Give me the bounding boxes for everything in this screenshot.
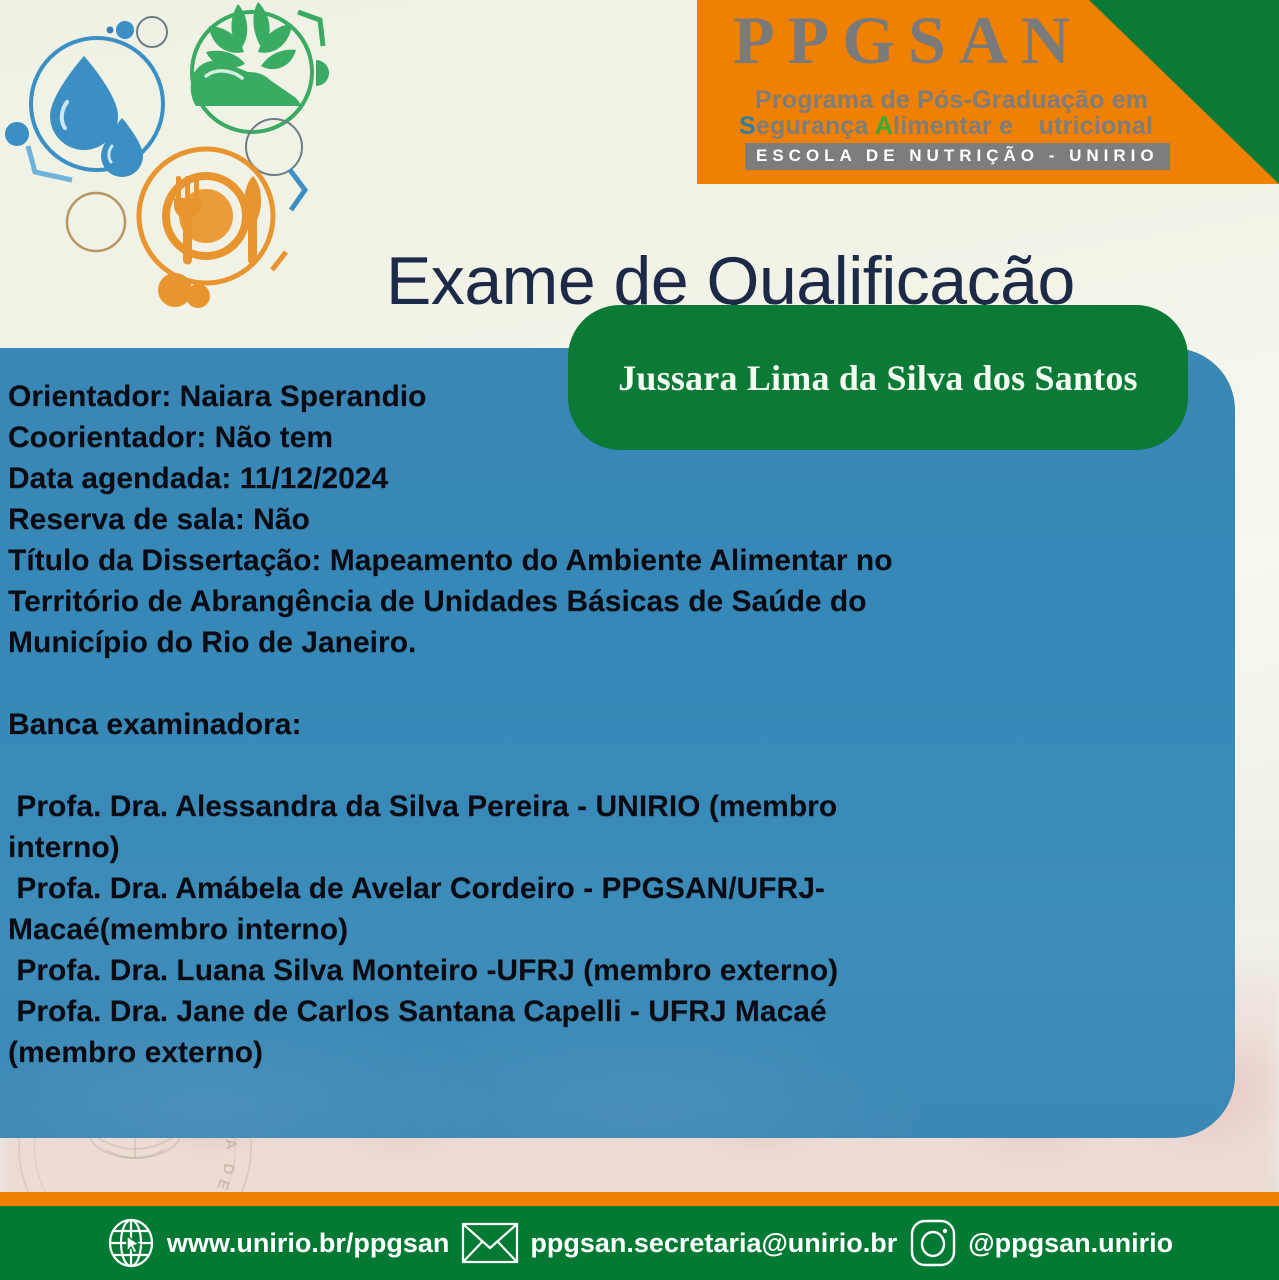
instagram-icon [909, 1217, 957, 1269]
footer-website-text: www.unirio.br/ppgsan [167, 1228, 450, 1259]
ppgsan-logo-block: PPGSAN Programa de Pós-Graduação em Segu… [697, 0, 1279, 184]
globe-icon [106, 1217, 156, 1269]
student-name-label: Jussara Lima da Silva dos Santos [618, 357, 1138, 399]
ppgsan-seguranca-rest: egurança [756, 112, 875, 140]
footer-website[interactable]: www.unirio.br/ppgsan [100, 1217, 456, 1269]
green-corner-triangle [1089, 0, 1279, 184]
envelope-icon [461, 1220, 519, 1266]
footer-email-text: ppgsan.secretaria@unirio.br [530, 1228, 897, 1259]
ppgsan-acronym: PPGSAN [733, 6, 1083, 74]
water-drop-icon [50, 56, 118, 150]
footer-email[interactable]: ppgsan.secretaria@unirio.br [455, 1220, 903, 1266]
student-name-badge: Jussara Lima da Silva dos Santos [568, 305, 1188, 450]
san-icons-artwork [0, 0, 380, 324]
ppgsan-n-letter-hidden: N [1020, 112, 1038, 140]
ppgsan-a-letter: A [875, 112, 893, 140]
poster-canvas: E S C O L A D E N U T R I Ç Ã O [0, 0, 1279, 1280]
footer-contacts: www.unirio.br/ppgsan ppgsan.secretaria@u… [0, 1206, 1279, 1280]
hand-icon [191, 61, 302, 106]
details-text: Orientador: Naiara Sperandio Coorientado… [8, 376, 1038, 1073]
footer-instagram[interactable]: @ppgsan.unirio [903, 1217, 1179, 1269]
ppgsan-alimentar-rest: limentar e [893, 112, 1020, 140]
ppgsan-s-letter: S [739, 112, 756, 140]
footer-instagram-text: @ppgsan.unirio [968, 1228, 1173, 1259]
footer-orange-bar [0, 1192, 1279, 1206]
